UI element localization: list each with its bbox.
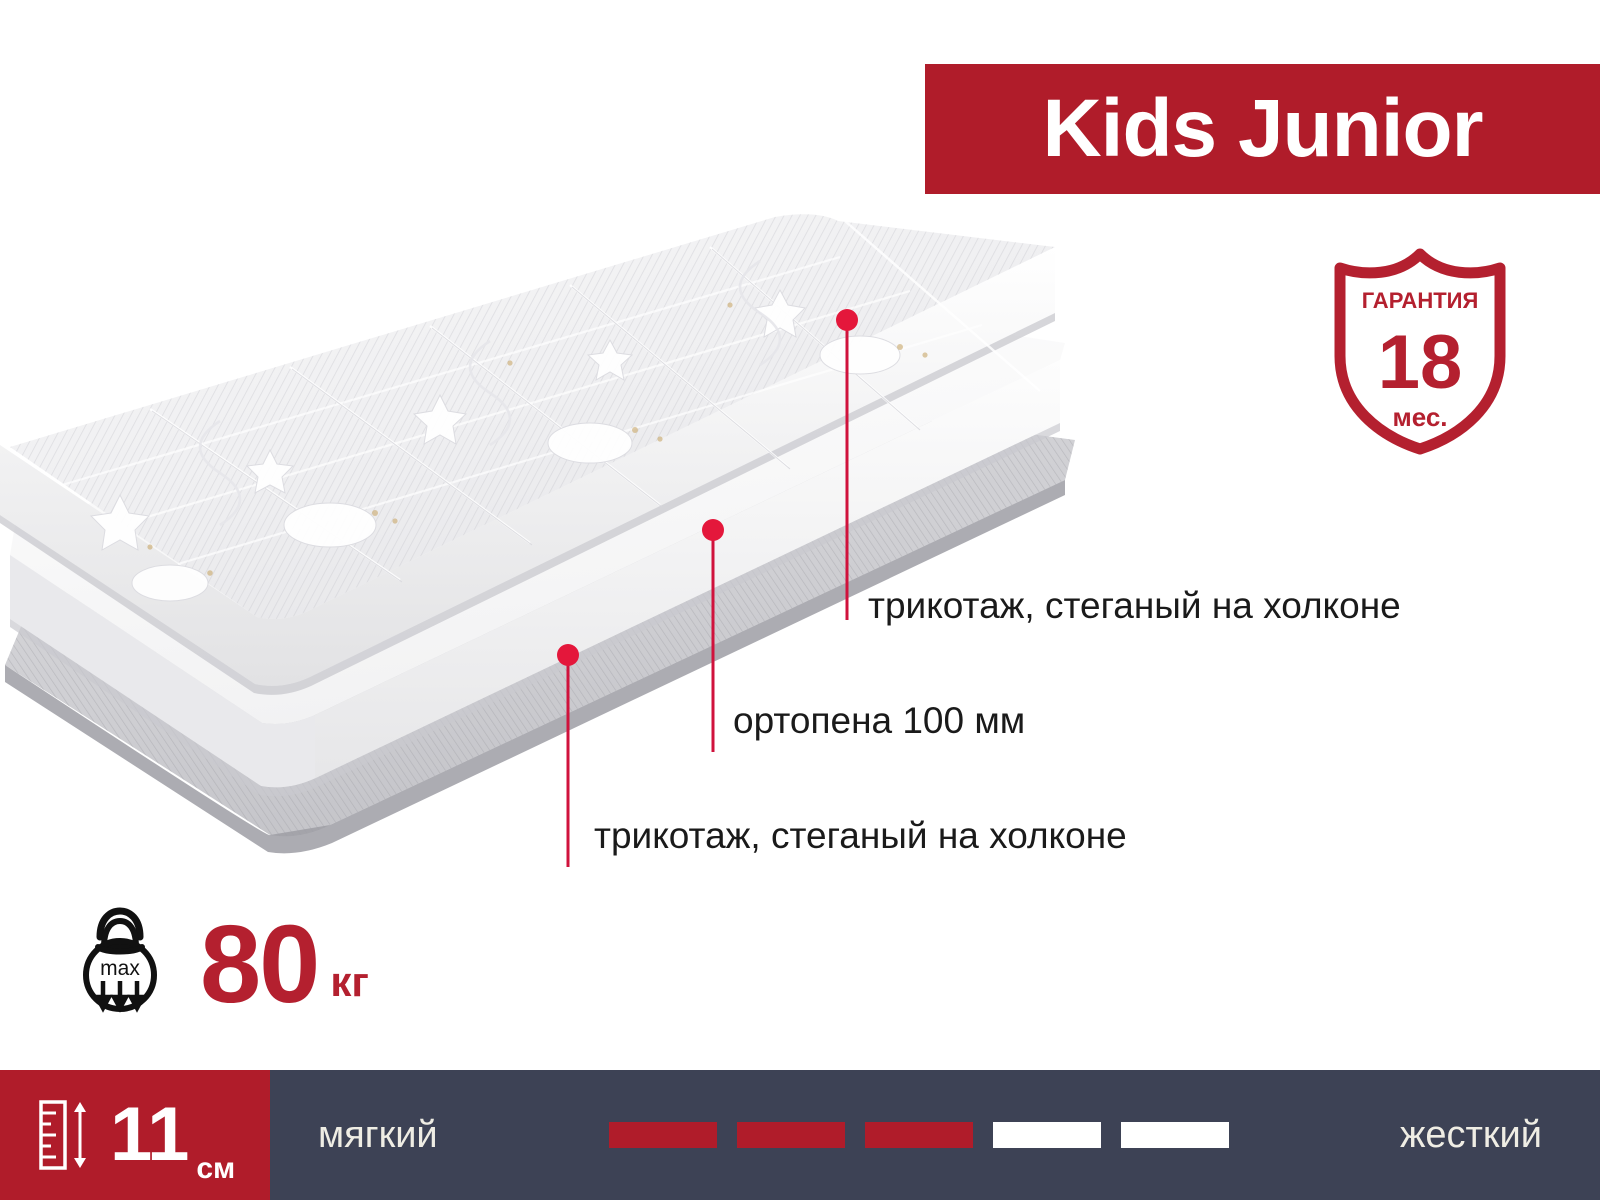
warranty-shield: ГАРАНТИЯ 18 мес. — [1330, 246, 1510, 456]
firmness-segment-5 — [1121, 1122, 1229, 1148]
max-weight-block: max 80 кг — [70, 905, 369, 1015]
callout-label-3: трикотаж, стеганый на холконе — [594, 817, 1127, 854]
firmness-firm-label: жесткий — [1400, 1116, 1542, 1154]
firmness-segment-1 — [609, 1122, 717, 1148]
ruler-icon — [38, 1099, 92, 1171]
product-title-banner: Kids Junior — [925, 64, 1600, 194]
height-value: 11 — [110, 1097, 188, 1173]
firmness-segment-4 — [993, 1122, 1101, 1148]
firmness-soft-label: мягкий — [318, 1116, 438, 1154]
height-unit: см — [196, 1154, 235, 1184]
firmness-segment-3 — [865, 1122, 973, 1148]
mattress-illustration — [0, 195, 1100, 875]
callout-label-2: ортопена 100 мм — [733, 702, 1025, 739]
warranty-unit: мес. — [1392, 402, 1447, 432]
warranty-value: 18 — [1378, 320, 1463, 405]
callout-line-1 — [846, 320, 849, 620]
callout-dot-3 — [557, 644, 579, 666]
callout-line-3 — [567, 655, 570, 867]
firmness-segment-2 — [737, 1122, 845, 1148]
kettlebell-icon: max — [70, 905, 170, 1015]
callout-label-1: трикотаж, стеганый на холконе — [868, 587, 1401, 624]
firmness-scale — [609, 1122, 1229, 1148]
height-cell: 11 см — [0, 1070, 270, 1200]
max-weight-value: 80 — [200, 914, 318, 1015]
callout-dot-2 — [702, 519, 724, 541]
max-weight-unit: кг — [330, 961, 369, 1003]
bottom-spec-bar: 11 см мягкий жесткий — [0, 1070, 1600, 1200]
page-title: Kids Junior — [1042, 88, 1482, 170]
callout-line-2 — [712, 530, 715, 752]
firmness-cell: мягкий жесткий — [270, 1070, 1600, 1200]
kettlebell-max-label: max — [100, 957, 140, 980]
warranty-top-label: ГАРАНТИЯ — [1362, 288, 1479, 313]
infographic-canvas: Kids Junior ГАРАНТИЯ 18 мес. трикотаж, с… — [0, 0, 1600, 1200]
callout-dot-1 — [836, 309, 858, 331]
